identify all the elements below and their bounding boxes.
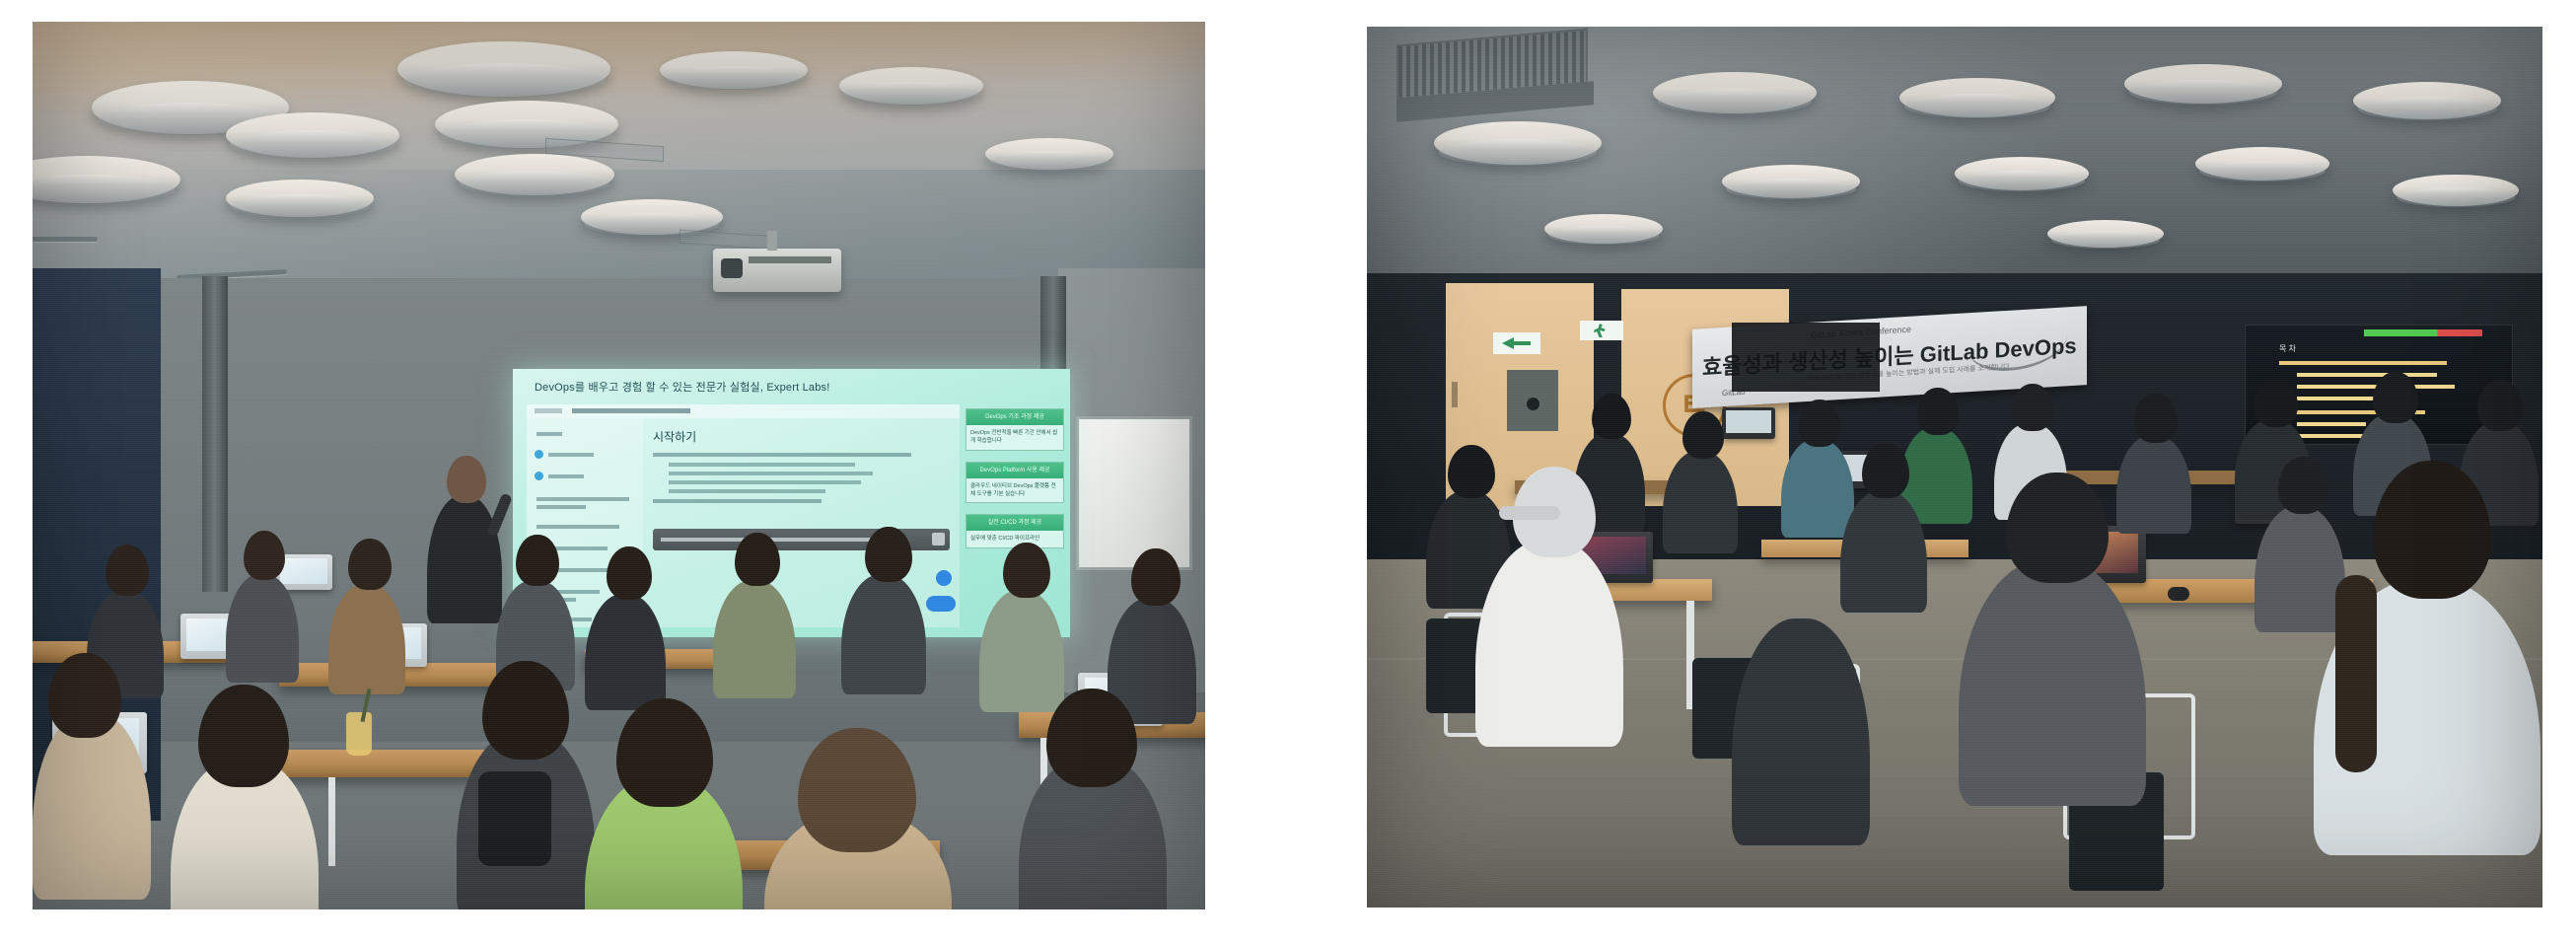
attendee-head (1917, 388, 1959, 435)
doc-paragraph-1 (653, 453, 911, 457)
drink-cup (346, 712, 372, 756)
attendee-head (106, 545, 149, 596)
doc-sidebar-bullet-1 (535, 450, 543, 459)
ceiling-light-10 (839, 67, 983, 105)
attendee-head (1592, 394, 1631, 439)
attendee-head (1862, 443, 1909, 498)
backpack (478, 771, 551, 866)
attendee-head-front (2006, 472, 2109, 583)
ceiling-light-4 (226, 112, 399, 158)
doc-sidebar-item-2 (548, 474, 584, 478)
projector-body-strip (749, 256, 831, 263)
projection-screen: DevOps를 배우고 경험 할 수 있는 전문가 실험실, Expert La… (513, 369, 1070, 637)
desk-leg-1 (328, 777, 335, 866)
exit-sign-pictogram (1580, 321, 1623, 340)
ceiling-light-6 (1722, 165, 1860, 198)
mouse (2168, 587, 2189, 601)
attendee-head (1448, 445, 1495, 498)
slide-card-body: 실무에 맞춘 CI/CD 파이프라인 (966, 531, 1063, 546)
doc-bullet-3 (669, 480, 861, 484)
slide-card-title: DevOps 기초 과정 제공 (966, 409, 1063, 425)
attendee-head-right (1046, 689, 1137, 787)
doc-sidebar-bullet-2 (535, 472, 543, 480)
attendee-head (2278, 457, 2327, 514)
doc-toolbar (527, 404, 960, 418)
attendee-head (735, 533, 780, 586)
attendee-head (2477, 380, 2523, 431)
doc-sidebar-item-3b (537, 505, 586, 509)
doc-bullet-4 (669, 489, 825, 493)
whiteboard (1076, 416, 1192, 570)
attendee-head (1682, 411, 1724, 459)
slide-bullet-6 (2297, 422, 2366, 426)
attendee-head (607, 546, 652, 600)
screenshot-canvas: DevOps를 배우고 경험 할 수 있는 전문가 실험실, Expert La… (0, 0, 2576, 945)
help-fab-button[interactable] (936, 570, 952, 586)
contact-fab-button[interactable] (926, 596, 956, 612)
attendee-head (1799, 400, 1840, 447)
ceiling-light-7 (455, 154, 614, 195)
attendee-head (348, 539, 392, 590)
ceiling-light-2 (1653, 72, 1817, 113)
slide-card: DevOps Platform 사용 제공 클라우드 네이티브 DevOps 플… (966, 462, 1064, 504)
attendee-head-front (798, 728, 916, 852)
doc-sidebar-item-4 (537, 525, 619, 529)
attendee-head (1131, 548, 1181, 606)
laptop-5 (1722, 407, 1775, 439)
slide-card: 실전 CI/CD 과정 제공 실무에 맞춘 CI/CD 파이프라인 (966, 514, 1064, 547)
exit-arrow-shaft (1513, 341, 1531, 345)
ceiling-light-1 (1434, 121, 1602, 165)
ceiling-light-4 (2124, 64, 2282, 104)
ceiling-light-5 (2353, 82, 2501, 119)
slide-card-title: DevOps Platform 사용 제공 (966, 463, 1063, 478)
ceiling-light-3 (1899, 78, 2055, 117)
doc-paragraph-2 (653, 499, 822, 503)
projector-lens-icon (721, 258, 743, 278)
attendee-head-front (198, 685, 289, 787)
ceiling-light-11 (985, 138, 1113, 170)
slide-title: 목 차 (2279, 343, 2296, 354)
attendee-head (244, 531, 285, 580)
slide-card: DevOps 기초 과정 제공 DevOps 전반적을 빠른 기간 안에서 쉽게… (966, 408, 1064, 451)
presenter-head (447, 456, 486, 503)
cap-brim-icon (1499, 506, 1560, 520)
attendee-head (1003, 543, 1050, 598)
copy-icon[interactable] (932, 533, 945, 545)
ceiling-light-9 (2393, 175, 2519, 206)
ceiling-light-8 (2195, 147, 2329, 181)
doc-breadcrumb (572, 408, 690, 413)
ceiling-light-10 (1544, 214, 1663, 244)
attendee-head (2134, 394, 2178, 443)
ceiling-light-2 (397, 41, 610, 97)
slide-card-list: DevOps 기초 과정 제공 DevOps 전반적을 빠른 기간 안에서 쉽게… (966, 408, 1064, 559)
left-projection-screen (1732, 323, 1880, 392)
slide-status-bar (2364, 329, 2482, 336)
slide-card-title: 실전 CI/CD 과정 제공 (966, 515, 1063, 531)
attendee-head (2254, 378, 2298, 427)
doc-bullet-1 (669, 463, 855, 467)
ceiling-slot-1 (33, 237, 98, 242)
doc-sidebar-title (537, 432, 562, 436)
attendee-head-front (48, 653, 121, 738)
attendee-head (865, 527, 912, 582)
running-person-icon (1594, 324, 1609, 337)
projector-mount (767, 231, 777, 251)
slide-bullet-1 (2279, 361, 2447, 365)
photo-left-classroom: DevOps를 배우고 경험 할 수 있는 전문가 실험실, Expert La… (33, 22, 1205, 909)
doc-heading: 시작하기 (653, 428, 954, 445)
ceiling-projector (713, 249, 841, 292)
ceiling-light-8 (581, 199, 723, 235)
doc-menu-icon (535, 408, 562, 413)
wall-pillar-1 (202, 276, 228, 592)
photo-right-auditorium: ㅌ GitLab Korea Conference 효율성과 생산성 높이는 G… (1367, 27, 2542, 908)
slide-card-body: 클라우드 네이티브 DevOps 플랫폼 전체 도구를 기본 실습니다 (966, 478, 1063, 503)
doc-sidebar-item-3 (537, 497, 629, 501)
door-handle (1452, 382, 1458, 407)
ceiling-light-11 (2047, 220, 2164, 248)
attendee-head (516, 535, 559, 586)
slide-card-body: DevOps 전반적을 빠른 기간 안에서 쉽게 학습합니다 (966, 425, 1063, 450)
attendee-head-front (482, 661, 569, 760)
attendee-head (2012, 384, 2053, 431)
attendee-head (2373, 372, 2418, 423)
slide-bullet-2 (2297, 373, 2437, 377)
exit-sign-arrow (1493, 332, 1540, 354)
ceiling-light-6 (226, 180, 374, 217)
wall-panel-knob-icon (1527, 398, 1539, 410)
attendee-head-front (616, 698, 713, 807)
ceiling-light-9 (660, 51, 808, 89)
doc-bullet-2 (669, 472, 873, 475)
ceiling-light-7 (1955, 157, 2089, 190)
doc-sidebar-item-1 (548, 453, 594, 457)
slide-headline: DevOps를 배우고 경험 할 수 있는 전문가 실험실, Expert La… (535, 379, 1060, 395)
hair-strand (2335, 575, 2377, 772)
